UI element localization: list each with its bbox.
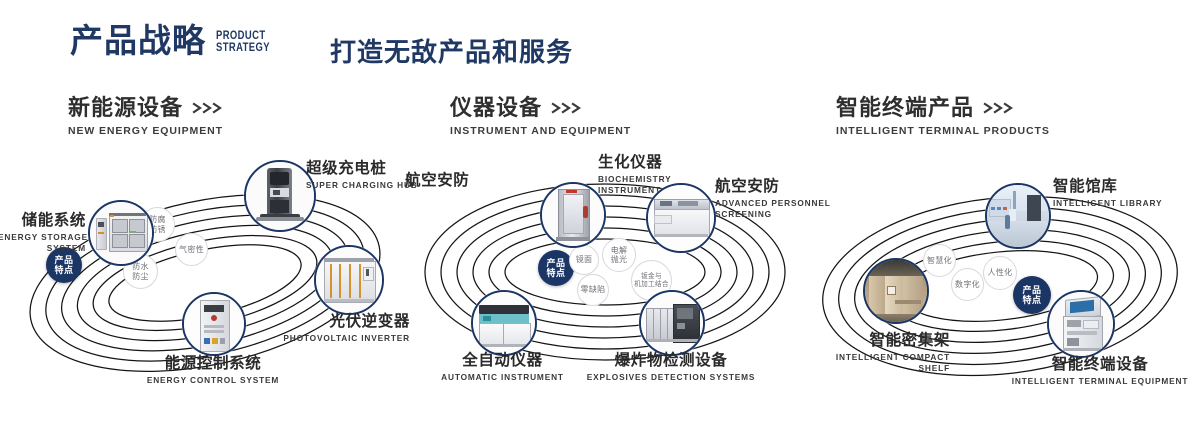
page-title-cn: 产品战略 bbox=[70, 24, 206, 57]
core-bubble: 产品 特点 bbox=[1013, 276, 1051, 314]
feature-text: 智慧化 bbox=[927, 256, 952, 265]
chevron-right-icon bbox=[551, 102, 585, 114]
node-energy-storage[interactable] bbox=[88, 200, 154, 266]
feature-text: 防尘 bbox=[132, 272, 149, 281]
label-en: AUTOMATIC INSTRUMENT bbox=[425, 372, 580, 383]
feature-text: 钣金与 bbox=[641, 273, 662, 281]
core-line1: 产品 bbox=[546, 258, 565, 268]
section-title-en: NEW ENERGY EQUIPMENT bbox=[68, 125, 226, 137]
label-cn: 生化仪器 bbox=[598, 154, 728, 172]
label-en: INTELLIGENT LIBRARY bbox=[1053, 198, 1162, 209]
feature-bubble: 镜面 bbox=[569, 245, 599, 275]
feature-text: 抛光 bbox=[611, 255, 628, 264]
label-en: EXPLOSIVES DETECTION SYSTEMS bbox=[585, 372, 757, 383]
label-en: INTELLIGENT TERMINAL EQUIPMENT bbox=[1000, 376, 1200, 387]
feature-text: 气密性 bbox=[179, 245, 204, 254]
label-en: INTELLIGENT COMPACT SHELF bbox=[785, 352, 950, 374]
label-cn: 智能密集架 bbox=[785, 332, 950, 350]
label-intelligent-compact-shelf: 智能密集架 INTELLIGENT COMPACT SHELF bbox=[785, 332, 950, 374]
section-title-instrument: 仪器设备 INSTRUMENT AND EQUIPMENT bbox=[450, 96, 631, 137]
feature-bubble: 智慧化 bbox=[923, 244, 956, 277]
label-en: ENERGY STORAGE SYSTEM bbox=[0, 232, 86, 254]
cluster-new-energy: 产品 特点 户外 防腐 防锈 防水 防尘 气密性 bbox=[0, 150, 410, 410]
feature-bubble: 气密性 bbox=[175, 233, 208, 266]
node-explosives-detection[interactable] bbox=[639, 290, 705, 356]
label-aviation-security-left: 航空安防 bbox=[405, 172, 469, 190]
feature-bubble: 电解 抛光 bbox=[602, 238, 636, 272]
node-intelligent-terminal-equipment[interactable] bbox=[1047, 290, 1115, 358]
label-cn: 全自动仪器 bbox=[425, 352, 580, 370]
section-label: 仪器设备 bbox=[450, 96, 542, 120]
node-advanced-personnel-screening[interactable] bbox=[646, 183, 716, 253]
cluster-instrument: 产品 特点 镜面 电解 抛光 零缺陷 钣金与 机加工结合 bbox=[395, 150, 815, 405]
product-strategy-infographic: 产品战略 PRODUCT STRATEGY 打造无敌产品和服务 新能源设备 NE… bbox=[0, 0, 1200, 422]
label-cn: 航空安防 bbox=[405, 172, 469, 190]
node-energy-control-system[interactable] bbox=[182, 292, 246, 356]
page-subtitle: 打造无敌产品和服务 bbox=[330, 32, 573, 69]
section-title-intelligent: 智能终端产品 INTELLIGENT TERMINAL PRODUCTS bbox=[836, 96, 1050, 137]
label-cn: 储能系统 bbox=[0, 212, 86, 230]
label-cn: 能源控制系统 bbox=[108, 355, 318, 373]
node-biochemistry-instrument[interactable] bbox=[540, 182, 606, 248]
section-title-cn: 新能源设备 bbox=[68, 96, 226, 120]
core-line1: 产品 bbox=[54, 255, 73, 265]
label-explosives-detection: 爆炸物检测设备 EXPLOSIVES DETECTION SYSTEMS bbox=[585, 352, 757, 383]
node-photovoltaic-inverter[interactable] bbox=[314, 245, 384, 315]
label-cn: 爆炸物检测设备 bbox=[585, 352, 757, 370]
section-title-en: INTELLIGENT TERMINAL PRODUCTS bbox=[836, 125, 1050, 137]
cluster-intelligent-terminal: 智慧化 数字化 人性化 产品 特点 bbox=[795, 150, 1200, 410]
node-automatic-instrument[interactable] bbox=[471, 290, 537, 356]
feature-text: 镜面 bbox=[576, 255, 593, 264]
core-line1: 产品 bbox=[1022, 285, 1041, 295]
label-photovoltaic-inverter: 光伏逆变器 PHOTOVOLTAIC INVERTER bbox=[236, 313, 410, 344]
label-en: PHOTOVOLTAIC INVERTER bbox=[236, 333, 410, 344]
feature-bubble: 零缺陷 bbox=[577, 274, 609, 306]
label-energy-storage: 储能系统 ENERGY STORAGE SYSTEM bbox=[0, 212, 86, 254]
feature-text: 人性化 bbox=[988, 268, 1013, 277]
core-line2: 特点 bbox=[54, 265, 73, 275]
label-intelligent-terminal-equipment: 智能终端设备 INTELLIGENT TERMINAL EQUIPMENT bbox=[1000, 356, 1200, 387]
feature-text: 电解 bbox=[611, 246, 628, 255]
label-en: ENERGY CONTROL SYSTEM bbox=[108, 375, 318, 386]
section-label: 智能终端产品 bbox=[836, 96, 974, 120]
node-intelligent-library[interactable] bbox=[985, 183, 1051, 249]
core-line2: 特点 bbox=[546, 268, 565, 278]
page-title-en: PRODUCT STRATEGY bbox=[216, 31, 270, 55]
label-energy-control-system: 能源控制系统 ENERGY CONTROL SYSTEM bbox=[108, 355, 318, 386]
page-title-en-line2: STRATEGY bbox=[216, 43, 270, 55]
section-title-new-energy: 新能源设备 NEW ENERGY EQUIPMENT bbox=[68, 96, 226, 137]
section-label: 新能源设备 bbox=[68, 96, 183, 120]
chevron-right-icon bbox=[983, 102, 1017, 114]
label-cn: 智能馆库 bbox=[1053, 178, 1162, 196]
page-title: 产品战略 PRODUCT STRATEGY bbox=[70, 24, 282, 57]
feature-text: 数字化 bbox=[955, 280, 980, 289]
feature-bubble: 人性化 bbox=[983, 256, 1017, 290]
node-intelligent-compact-shelf[interactable] bbox=[863, 258, 929, 324]
chevron-right-icon bbox=[192, 102, 226, 114]
core-line2: 特点 bbox=[1022, 295, 1041, 305]
label-cn: 智能终端设备 bbox=[1000, 356, 1200, 374]
feature-text: 零缺陷 bbox=[581, 285, 606, 294]
section-title-en: INSTRUMENT AND EQUIPMENT bbox=[450, 125, 631, 137]
section-title-cn: 仪器设备 bbox=[450, 96, 631, 120]
section-title-cn: 智能终端产品 bbox=[836, 96, 1050, 120]
feature-bubble: 数字化 bbox=[951, 268, 984, 301]
feature-text: 机加工结合 bbox=[634, 281, 668, 289]
label-cn: 光伏逆变器 bbox=[236, 313, 410, 331]
label-automatic-instrument: 全自动仪器 AUTOMATIC INSTRUMENT bbox=[425, 352, 580, 383]
label-intelligent-library: 智能馆库 INTELLIGENT LIBRARY bbox=[1053, 178, 1162, 209]
